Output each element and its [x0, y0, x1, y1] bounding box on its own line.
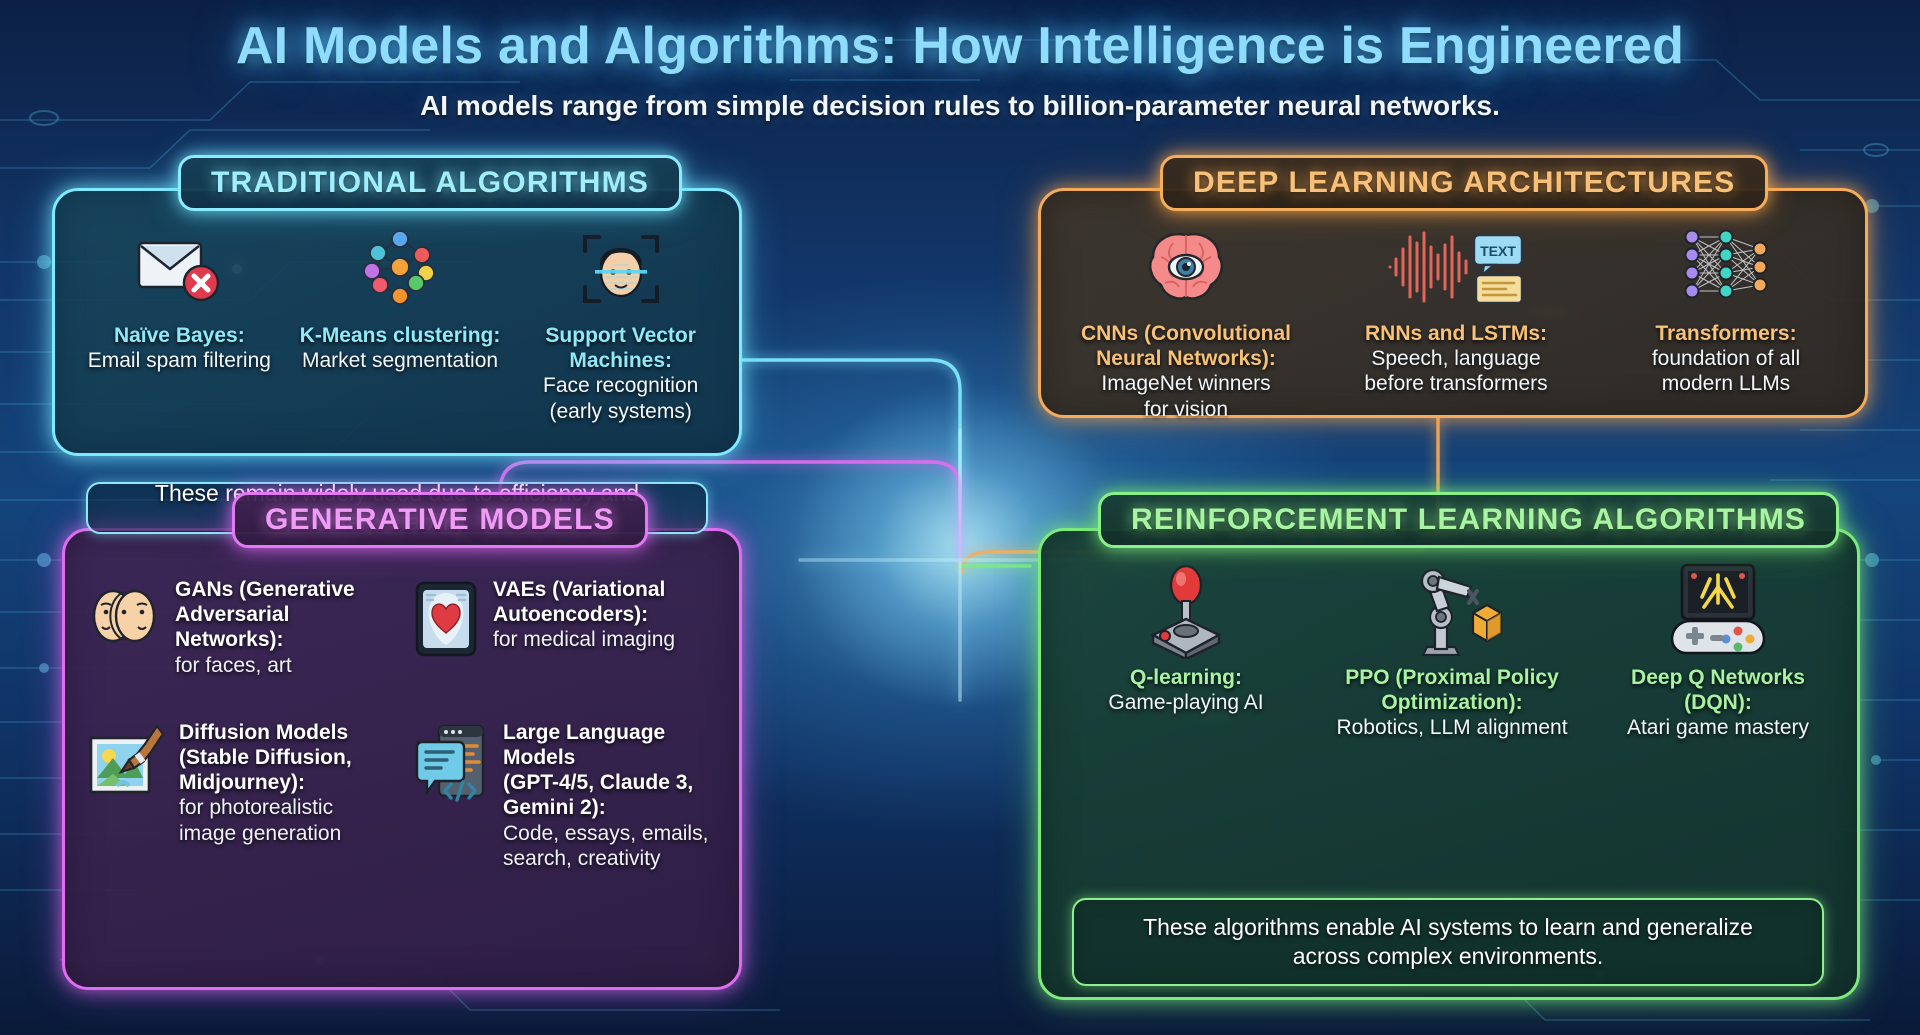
- item-transformers[interactable]: Transformers: foundation of all modern L…: [1591, 225, 1861, 422]
- item-headline: K-Means clustering:: [300, 323, 501, 348]
- header: AI Models and Algorithms: How Intelligen…: [0, 16, 1920, 122]
- item-k-means[interactable]: K-Means clustering: Market segmentation: [290, 227, 511, 424]
- item-text: CNNs (Convolutional Neural Networks): Im…: [1081, 321, 1291, 422]
- item-description: Game-playing AI: [1108, 690, 1263, 715]
- item-text: VAEs (Variational Autoencoders): for med…: [493, 577, 675, 653]
- medical-scan-heart-icon: [413, 577, 479, 659]
- item-vaes[interactable]: VAEs (Variational Autoencoders): for med…: [405, 577, 731, 678]
- brain-eye-icon: [1143, 225, 1229, 309]
- two-faces-icon: [87, 577, 161, 653]
- panel-generative-models: GANs (Generative Adversarial Networks): …: [62, 528, 742, 990]
- item-headline: GANs (Generative Adversarial Networks):: [175, 577, 397, 653]
- item-description: for photorealistic image generation: [179, 795, 352, 845]
- item-gans[interactable]: GANs (Generative Adversarial Networks): …: [79, 577, 405, 678]
- waveform-text-icon: TEXT: [1386, 225, 1526, 309]
- panel-title-traditional[interactable]: TRADITIONAL ALGORITHMS: [178, 155, 682, 211]
- item-description: Code, essays, emails, search, creativity: [503, 821, 723, 871]
- infographic-canvas: AI Models and Algorithms: How Intelligen…: [0, 0, 1920, 1035]
- item-description: foundation of all modern LLMs: [1652, 346, 1800, 396]
- item-text: Deep Q Networks (DQN): Atari game master…: [1627, 665, 1809, 741]
- item-dqn[interactable]: Deep Q Networks (DQN): Atari game master…: [1585, 569, 1851, 741]
- item-headline: Transformers:: [1652, 321, 1800, 346]
- panel-title-generative[interactable]: GENERATIVE MODELS: [232, 492, 648, 548]
- item-diffusion[interactable]: Diffusion Models (Stable Diffusion, Midj…: [79, 720, 405, 871]
- chat-code-icon: [413, 720, 489, 808]
- item-text: Q-learning: Game-playing AI: [1108, 665, 1263, 715]
- item-rnn-lstm[interactable]: TEXT RNNs and LSTMs: Speech, language be…: [1321, 225, 1591, 422]
- item-text: GANs (Generative Adversarial Networks): …: [175, 577, 397, 678]
- panel-title-deep-learning[interactable]: DEEP LEARNING ARCHITECTURES: [1160, 155, 1768, 211]
- panel-traditional-algorithms: Naïve Bayes: Email spam filtering: [52, 188, 742, 456]
- item-description: Atari game mastery: [1627, 715, 1809, 740]
- traditional-items: Naïve Bayes: Email spam filtering: [69, 227, 731, 424]
- item-llms[interactable]: Large Language Models (GPT-4/5, Claude 3…: [405, 720, 731, 871]
- picture-paintbrush-icon: [87, 720, 165, 806]
- neural-network-icon: [1676, 225, 1776, 309]
- game-controller-icon: [1668, 569, 1768, 653]
- item-description: for medical imaging: [493, 627, 675, 652]
- item-text: K-Means clustering: Market segmentation: [300, 323, 501, 373]
- item-headline: VAEs (Variational Autoencoders):: [493, 577, 675, 627]
- panel-deep-learning-architectures: CNNs (Convolutional Neural Networks): Im…: [1038, 188, 1868, 418]
- item-headline: Support Vector Machines:: [510, 323, 731, 373]
- cluster-network-icon: [358, 227, 442, 311]
- email-blocked-icon: [135, 227, 223, 311]
- item-headline: Q-learning:: [1108, 665, 1263, 690]
- item-text: Diffusion Models (Stable Diffusion, Midj…: [179, 720, 352, 846]
- robot-arm-icon: [1397, 569, 1507, 653]
- note-reinforcement: These algorithms enable AI systems to le…: [1072, 898, 1824, 986]
- item-ppo[interactable]: PPO (Proximal Policy Optimization): Robo…: [1319, 569, 1585, 741]
- item-description: Market segmentation: [300, 348, 501, 373]
- item-text: RNNs and LSTMs: Speech, language before …: [1364, 321, 1547, 397]
- item-description: for faces, art: [175, 653, 397, 678]
- item-description: Face recognition (early systems): [510, 373, 731, 423]
- item-q-learning[interactable]: Q-learning: Game-playing AI: [1053, 569, 1319, 741]
- item-text: Large Language Models (GPT-4/5, Claude 3…: [503, 720, 723, 871]
- item-description: Robotics, LLM alignment: [1336, 715, 1567, 740]
- item-naive-bayes[interactable]: Naïve Bayes: Email spam filtering: [69, 227, 290, 424]
- item-description: Email spam filtering: [88, 348, 271, 373]
- page-subtitle: AI models range from simple decision rul…: [0, 90, 1920, 122]
- page-title: AI Models and Algorithms: How Intelligen…: [0, 16, 1920, 76]
- item-text: Support Vector Machines: Face recognitio…: [510, 323, 731, 424]
- generative-items: GANs (Generative Adversarial Networks): …: [79, 577, 731, 871]
- item-headline: Naïve Bayes:: [88, 323, 271, 348]
- item-svm[interactable]: Support Vector Machines: Face recognitio…: [510, 227, 731, 424]
- item-description: ImageNet winners for vision: [1081, 371, 1291, 421]
- panel-title-reinforcement[interactable]: REINFORCEMENT LEARNING ALGORITHMS: [1098, 492, 1839, 548]
- item-headline: Diffusion Models (Stable Diffusion, Midj…: [179, 720, 352, 796]
- item-text: Naïve Bayes: Email spam filtering: [88, 323, 271, 373]
- item-headline: CNNs (Convolutional Neural Networks):: [1081, 321, 1291, 371]
- item-headline: RNNs and LSTMs:: [1364, 321, 1547, 346]
- item-headline: PPO (Proximal Policy Optimization):: [1336, 665, 1567, 715]
- item-headline: Large Language Models (GPT-4/5, Claude 3…: [503, 720, 723, 821]
- reinforcement-items: Q-learning: Game-playing AI: [1053, 569, 1851, 741]
- item-text: PPO (Proximal Policy Optimization): Robo…: [1336, 665, 1567, 741]
- item-cnn[interactable]: CNNs (Convolutional Neural Networks): Im…: [1051, 225, 1321, 422]
- deep-learning-items: CNNs (Convolutional Neural Networks): Im…: [1051, 225, 1861, 422]
- joystick-icon: [1141, 569, 1231, 653]
- item-headline: Deep Q Networks (DQN):: [1627, 665, 1809, 715]
- face-recognition-icon: [579, 227, 663, 311]
- item-description: Speech, language before transformers: [1364, 346, 1547, 396]
- item-text: Transformers: foundation of all modern L…: [1652, 321, 1800, 397]
- svg-text:TEXT: TEXT: [1480, 243, 1516, 259]
